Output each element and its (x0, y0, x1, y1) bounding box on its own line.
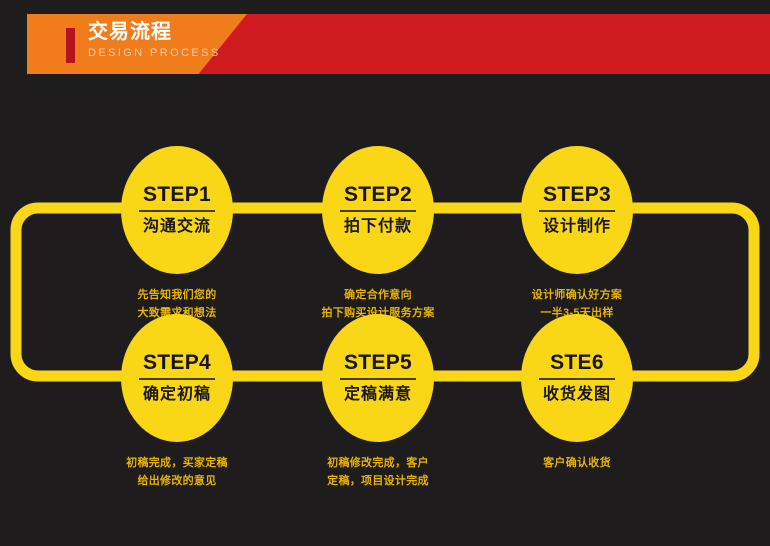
step-card-4[interactable]: STEP4 确定初稿 初稿完成，买家定稿 给出修改的意见 (102, 314, 252, 490)
step-card-5[interactable]: STEP5 定稿满意 初稿修改完成，客户 定稿，项目设计完成 (303, 314, 453, 490)
step-name-3: 设计制作 (543, 217, 611, 237)
step-caption-line: 给出修改的意见 (102, 472, 252, 490)
step-number-5: STEP5 (344, 351, 412, 375)
step-divider-3 (539, 210, 615, 212)
step-number-4: STEP4 (143, 351, 211, 375)
step-number-6: STE6 (550, 351, 604, 375)
step-caption-line: 设计师确认好方案 (502, 286, 652, 304)
page-title: 交易流程 (88, 19, 328, 45)
step-divider-6 (539, 378, 615, 380)
step-caption-5: 初稿修改完成，客户 定稿，项目设计完成 (303, 454, 453, 490)
step-number-1: STEP1 (143, 183, 211, 207)
step-bubble-3[interactable]: STEP3 设计制作 (521, 146, 633, 274)
step-caption-line: 初稿修改完成，客户 (303, 454, 453, 472)
step-divider-5 (340, 378, 416, 380)
step-card-3[interactable]: STEP3 设计制作 设计师确认好方案 一半3-5天出样 (502, 146, 652, 322)
step-name-6: 收货发图 (543, 385, 611, 405)
step-bubble-2[interactable]: STEP2 拍下付款 (322, 146, 434, 274)
step-divider-4 (139, 378, 215, 380)
step-number-3: STEP3 (543, 183, 611, 207)
step-caption-line: 初稿完成，买家定稿 (102, 454, 252, 472)
step-number-2: STEP2 (344, 183, 412, 207)
step-bubble-6[interactable]: STE6 收货发图 (521, 314, 633, 442)
step-caption-line: 确定合作意向 (303, 286, 453, 304)
step-caption-6: 客户确认收货 (502, 454, 652, 472)
step-caption-line: 客户确认收货 (502, 454, 652, 472)
step-bubble-4[interactable]: STEP4 确定初稿 (121, 314, 233, 442)
header-banner: 交易流程 DESIGN PROCESS (0, 14, 770, 74)
step-caption-line: 先告知我们您的 (102, 286, 252, 304)
step-caption-4: 初稿完成，买家定稿 给出修改的意见 (102, 454, 252, 490)
step-name-2: 拍下付款 (344, 217, 412, 237)
step-name-1: 沟通交流 (143, 217, 211, 237)
step-bubble-1[interactable]: STEP1 沟通交流 (121, 146, 233, 274)
design-process-infographic: 交易流程 DESIGN PROCESS STEP1 沟通交流 先告知我们您的 大… (0, 0, 770, 546)
step-card-6[interactable]: STE6 收货发图 客户确认收货 (502, 314, 652, 472)
banner-accent-bar (66, 28, 75, 63)
step-name-5: 定稿满意 (344, 385, 412, 405)
step-divider-1 (139, 210, 215, 212)
step-divider-2 (340, 210, 416, 212)
step-card-1[interactable]: STEP1 沟通交流 先告知我们您的 大致需求和想法 (102, 146, 252, 322)
page-subtitle: DESIGN PROCESS (88, 45, 328, 61)
step-card-2[interactable]: STEP2 拍下付款 确定合作意向 拍下购买设计服务方案 (303, 146, 453, 322)
step-name-4: 确定初稿 (143, 385, 211, 405)
banner-text-group: 交易流程 DESIGN PROCESS (88, 19, 328, 61)
step-caption-line: 定稿，项目设计完成 (303, 472, 453, 490)
step-bubble-5[interactable]: STEP5 定稿满意 (322, 314, 434, 442)
